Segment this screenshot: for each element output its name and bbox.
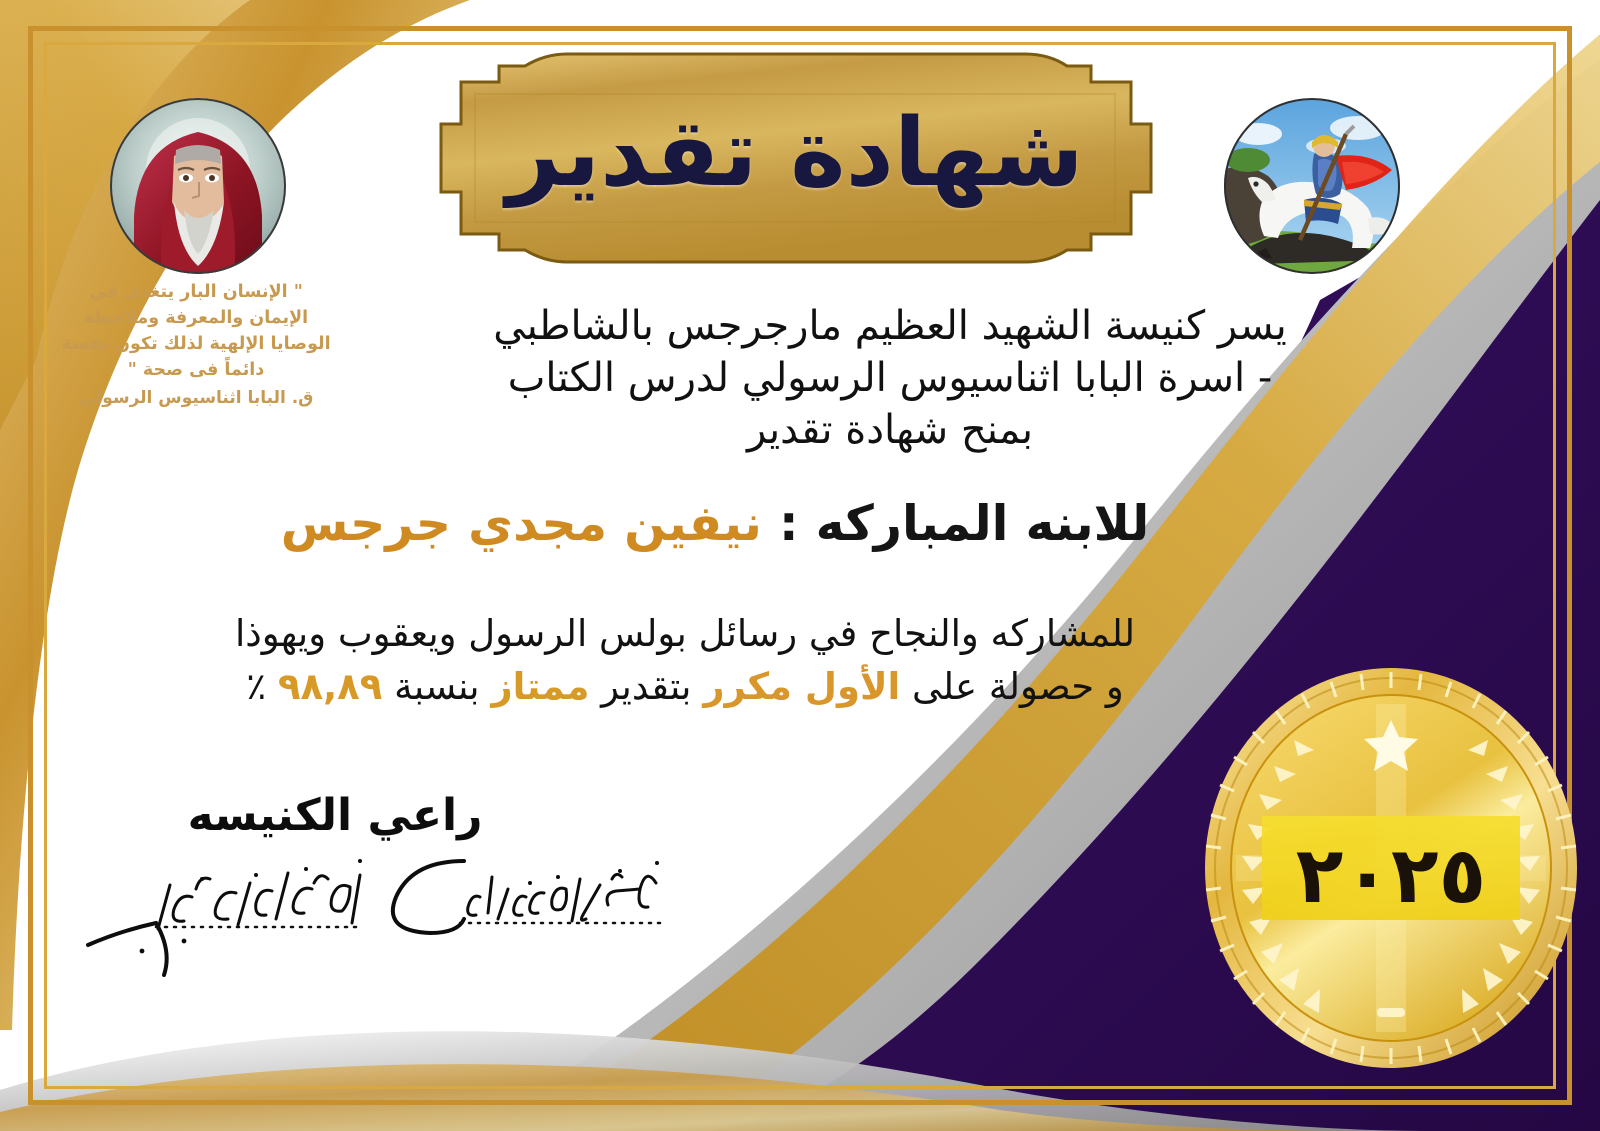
body-line-2: - اسرة البابا اثناسيوس الرسولي لدرس الكت… bbox=[360, 352, 1420, 404]
achievement-block: للمشاركه والنجاح في رسائل بولس الرسول وي… bbox=[90, 608, 1280, 713]
body-line-1: يسر كنيسة الشهيد العظيم مارجرجس بالشاطبي bbox=[360, 300, 1420, 352]
achievement-line-2: و حصولة على الأول مكرر بتقدير ممتاز بنسب… bbox=[90, 661, 1280, 714]
signature-area: راعي الكنيسه bbox=[60, 790, 680, 971]
certificate-page: شهادة تقدير bbox=[0, 0, 1600, 1131]
body-line-3: بمنح شهادة تقدير bbox=[360, 404, 1420, 456]
achievement-rank: الأول مكرر bbox=[703, 665, 900, 708]
gold-seal-medal: ٢٠٢٥ bbox=[1196, 658, 1586, 1078]
recipient-name: نيفين مجدي جرجس bbox=[281, 495, 762, 552]
achievement-mid: بتقدير bbox=[601, 665, 691, 708]
athanasius-illustration bbox=[104, 98, 292, 274]
quote-attribution: ق. البابا اثناسيوس الرسولي bbox=[60, 386, 332, 411]
recipient-label: للابنه المباركه : bbox=[779, 495, 1149, 552]
seal-year: ٢٠٢٥ bbox=[1196, 831, 1586, 921]
achievement-percentage: ٩٨,٨٩ bbox=[278, 665, 382, 708]
body-text-block: يسر كنيسة الشهيد العظيم مارجرجس بالشاطبي… bbox=[360, 300, 1420, 456]
saint-george-illustration bbox=[1218, 98, 1406, 274]
saint-athanasius-portrait-icon bbox=[104, 98, 292, 274]
handwritten-signatures-icon bbox=[60, 827, 680, 977]
achievement-prefix: و حصولة على bbox=[912, 665, 1124, 708]
percent-sign: ٪ bbox=[246, 665, 266, 708]
achievement-mid2: بنسبة bbox=[394, 665, 479, 708]
certificate-title: شهادة تقدير bbox=[415, 52, 1175, 264]
saint-quote-block: " الإنسان البار يتغذى في الإيمان والمعرف… bbox=[60, 280, 332, 411]
saint-george-on-horse-icon bbox=[1218, 98, 1406, 274]
achievement-grade: ممتاز bbox=[491, 665, 589, 708]
achievement-line-1: للمشاركه والنجاح في رسائل بولس الرسول وي… bbox=[90, 608, 1280, 661]
quote-text: " الإنسان البار يتغذى في الإيمان والمعرف… bbox=[60, 280, 332, 384]
title-plaque: شهادة تقدير bbox=[415, 52, 1175, 264]
recipient-line: للابنه المباركه : نيفين مجدي جرجس bbox=[150, 495, 1280, 552]
signature-rows bbox=[60, 841, 680, 971]
